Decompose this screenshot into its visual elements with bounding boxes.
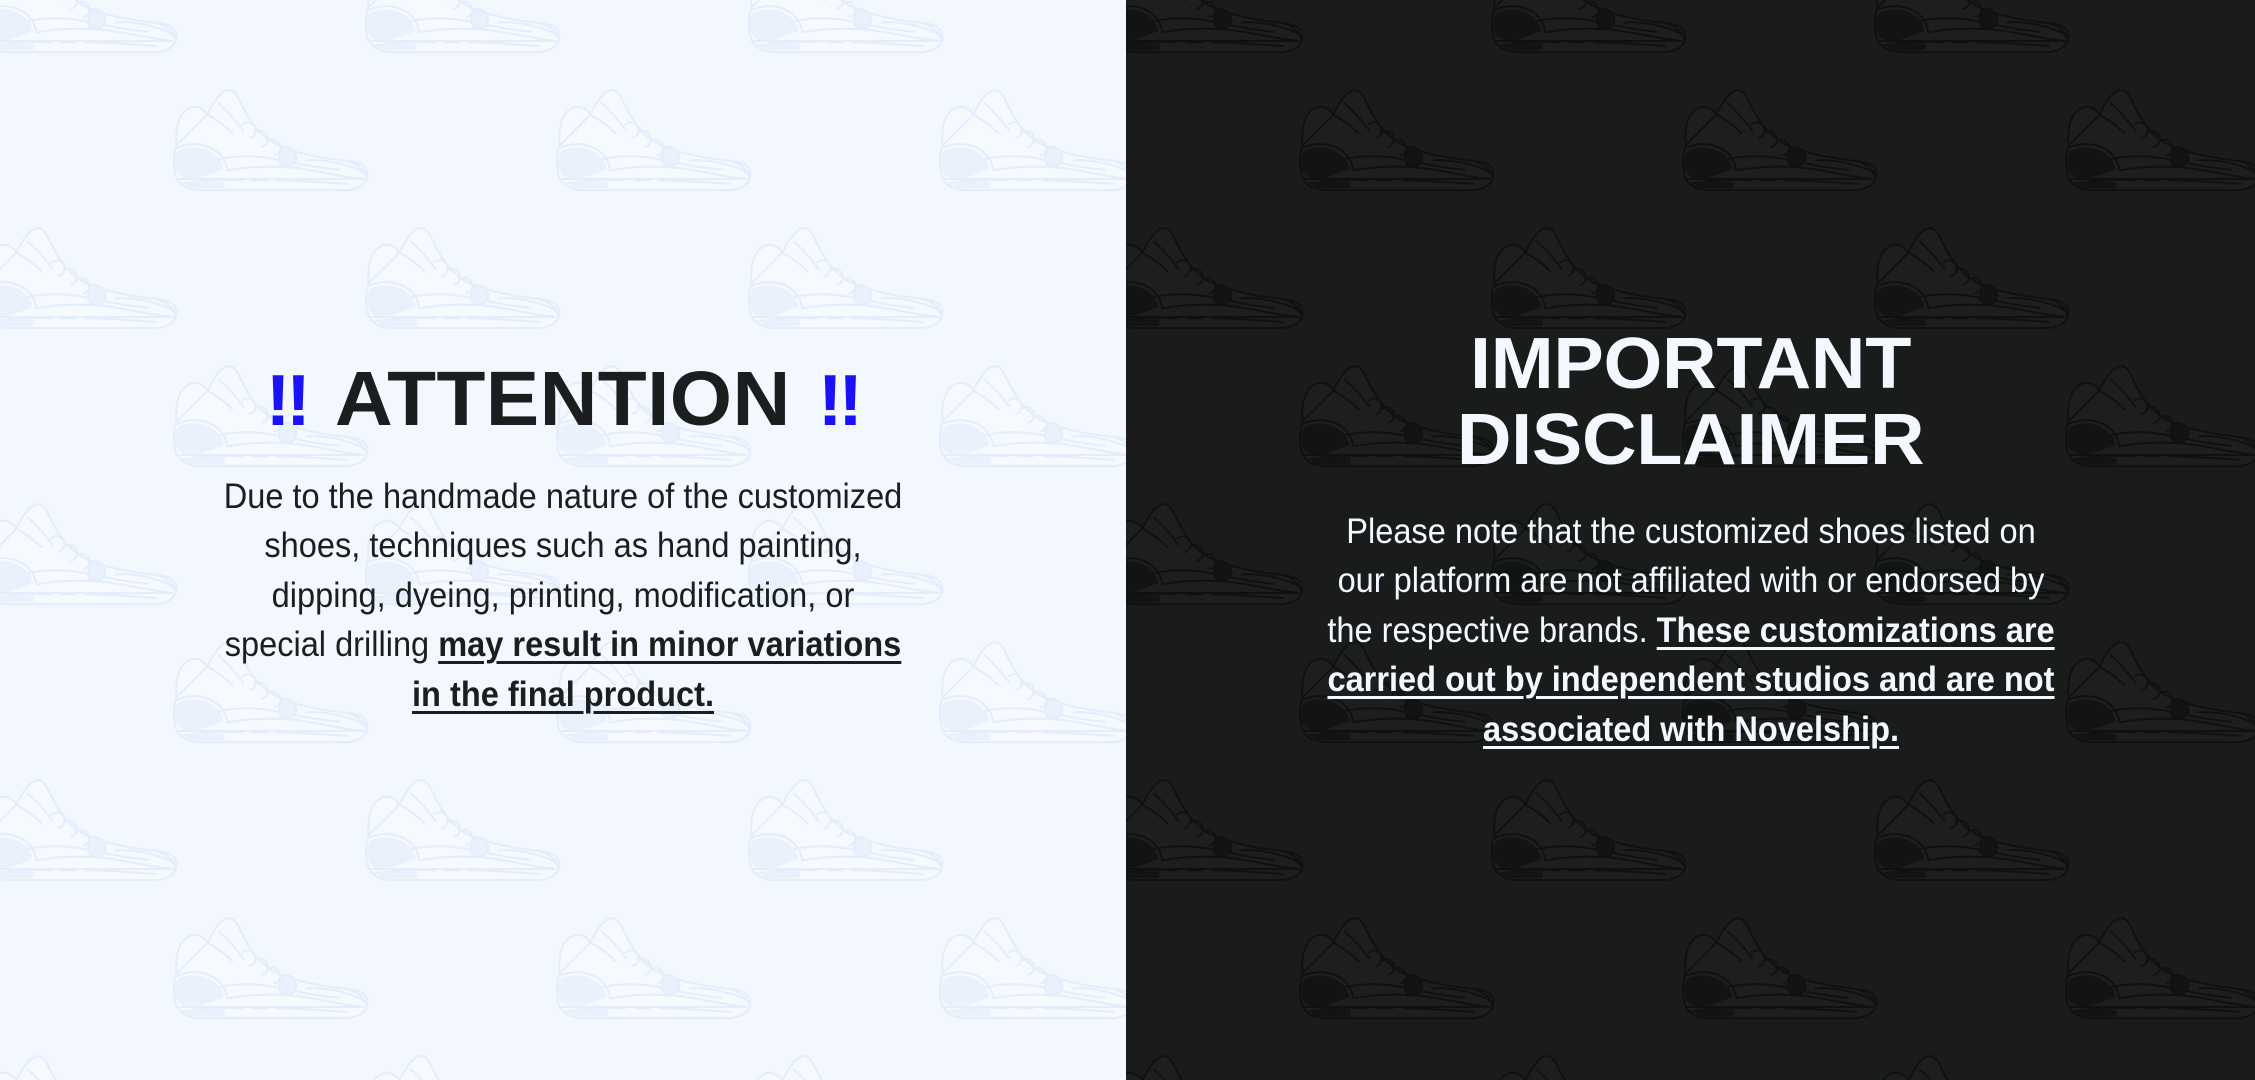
attention-panel: ‼ ATTENTION ‼ Due to the handmade nature… bbox=[0, 0, 1126, 1080]
disclaimer-heading: IMPORTANT DISCLAIMER bbox=[1457, 326, 1924, 479]
disclaimer-panel: IMPORTANT DISCLAIMER Please note that th… bbox=[1126, 0, 2255, 1080]
disclaimer-content: IMPORTANT DISCLAIMER Please note that th… bbox=[1126, 0, 2255, 1080]
promo-banner: ‼ ATTENTION ‼ Due to the handmade nature… bbox=[0, 0, 2255, 1080]
attention-content: ‼ ATTENTION ‼ Due to the handmade nature… bbox=[0, 0, 1126, 1080]
disclaimer-heading-line1: IMPORTANT bbox=[1457, 326, 1924, 402]
attention-body-emphasis: may result in minor variations in the fi… bbox=[412, 625, 901, 714]
double-exclamation-left-icon: ‼ bbox=[266, 365, 308, 437]
double-exclamation-right-icon: ‼ bbox=[818, 365, 860, 437]
attention-body: Due to the handmade nature of the custom… bbox=[219, 472, 907, 720]
attention-heading: ‼ ATTENTION ‼ bbox=[266, 361, 860, 438]
disclaimer-body: Please note that the customized shoes li… bbox=[1323, 507, 2058, 755]
attention-heading-text: ATTENTION bbox=[335, 361, 791, 438]
disclaimer-heading-line2: DISCLAIMER bbox=[1457, 402, 1924, 478]
